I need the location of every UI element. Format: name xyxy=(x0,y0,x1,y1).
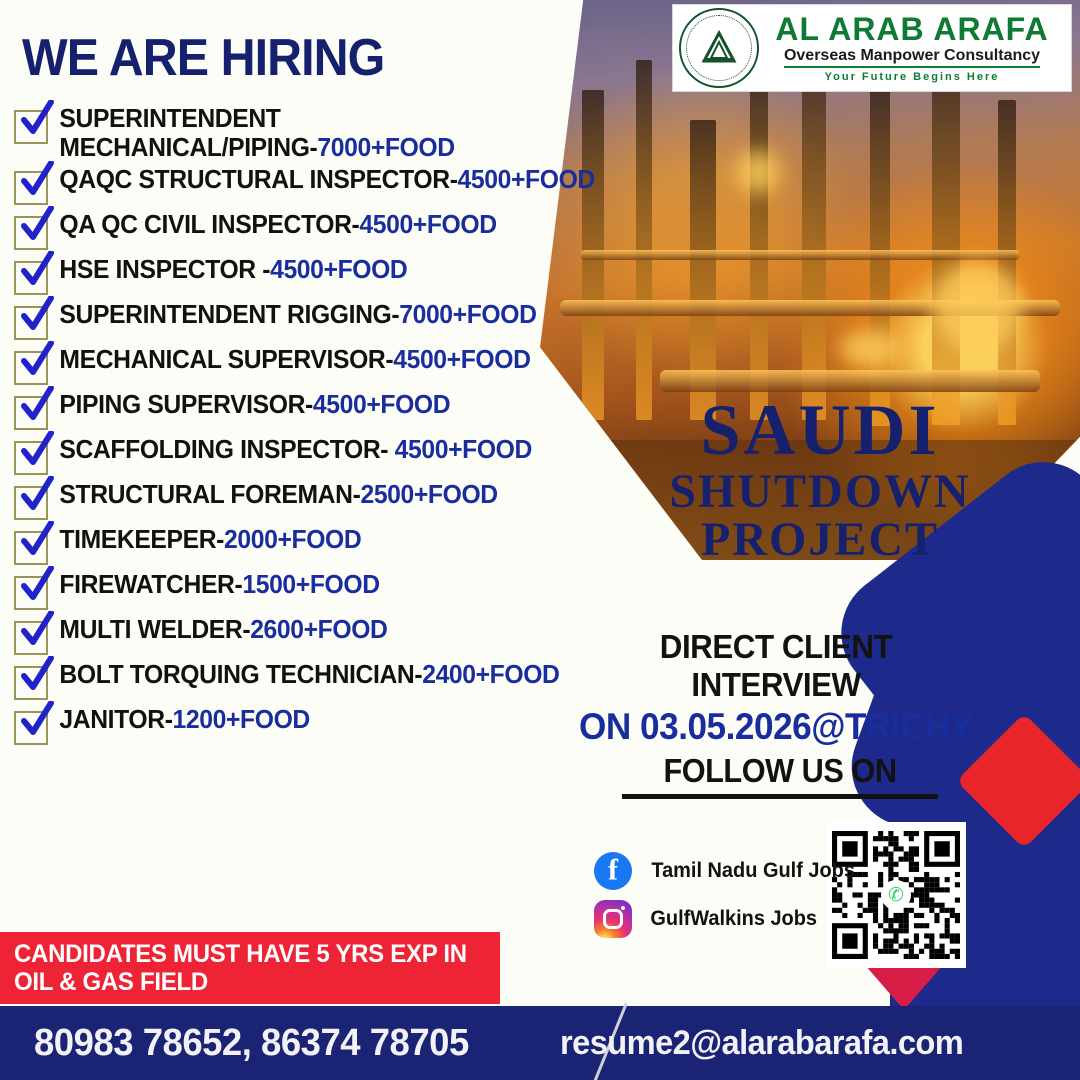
social-account-label: GulfWalkins Jobs xyxy=(650,907,817,931)
instagram-icon[interactable] xyxy=(594,900,632,938)
contact-email[interactable]: resume2@alarabarafa.com xyxy=(560,1024,963,1063)
job-salary: 1500+FOOD xyxy=(242,569,379,599)
checkbox-icon xyxy=(14,306,48,340)
job-salary: 4500+FOOD xyxy=(359,209,496,239)
job-title: HSE INSPECTOR -4500+FOOD xyxy=(48,255,624,284)
follow-us-divider xyxy=(622,794,938,799)
follow-us-label: FOLLOW US ON xyxy=(613,752,948,790)
checkbox-icon xyxy=(14,621,48,655)
job-list-item: HSE INSPECTOR -4500+FOOD xyxy=(14,255,654,297)
job-salary: 4500+FOOD xyxy=(458,164,595,194)
job-list-item: SCAFFOLDING INSPECTOR- 4500+FOOD xyxy=(14,435,654,477)
job-title: BOLT TORQUING TECHNICIAN-2400+FOOD xyxy=(48,660,624,689)
requirement-line1: CANDIDATES MUST HAVE 5 YRS EXP IN xyxy=(14,940,481,968)
follow-us-heading: FOLLOW US ON xyxy=(600,752,960,799)
job-title: STRUCTURAL FOREMAN-2500+FOOD xyxy=(48,480,624,509)
hiring-poster: AL ARAB ARAFA Overseas Manpower Consulta… xyxy=(0,0,1080,1080)
checkbox-icon xyxy=(14,486,48,520)
requirement-line2: OIL & GAS FIELD xyxy=(14,968,481,996)
job-title: QA QC CIVIL INSPECTOR-4500+FOOD xyxy=(48,210,624,239)
logo-company-name: AL ARAB ARAFA xyxy=(759,13,1065,45)
job-list-item: BOLT TORQUING TECHNICIAN-2400+FOOD xyxy=(14,660,654,702)
job-salary: 2600+FOOD xyxy=(250,614,387,644)
job-title: MULTI WELDER-2600+FOOD xyxy=(48,615,624,644)
interview-line1: DIRECT CLIENT INTERVIEW xyxy=(577,628,976,704)
checkbox-icon xyxy=(14,441,48,475)
interview-line2: ON 03.05.2026@TRICHY xyxy=(577,706,976,748)
social-account[interactable]: GulfWalkins Jobs xyxy=(594,900,860,938)
social-account-label: Tamil Nadu Gulf Jobs xyxy=(651,859,855,883)
project-title-line2: SHUTDOWN PROJECT xyxy=(560,468,1080,564)
job-title: SUPERINTENDENT MECHANICAL/PIPING-7000+FO… xyxy=(48,104,624,162)
interview-details: DIRECT CLIENT INTERVIEW ON 03.05.2026@TR… xyxy=(566,628,986,748)
job-salary: 4500+FOOD xyxy=(393,344,530,374)
contact-phone-numbers[interactable]: 80983 78652, 86374 78705 xyxy=(34,1022,469,1065)
checkbox-icon xyxy=(14,666,48,700)
checkbox-icon xyxy=(14,531,48,565)
job-list-item: STRUCTURAL FOREMAN-2500+FOOD xyxy=(14,480,654,522)
page-title: WE ARE HIRING xyxy=(22,28,384,88)
job-list: SUPERINTENDENT MECHANICAL/PIPING-7000+FO… xyxy=(14,104,654,750)
job-list-item: QA QC CIVIL INSPECTOR-4500+FOOD xyxy=(14,210,654,252)
logo-subtitle: Overseas Manpower Consultancy xyxy=(784,48,1040,68)
job-salary: 2500+FOOD xyxy=(360,479,497,509)
job-title: MECHANICAL SUPERVISOR-4500+FOOD xyxy=(48,345,624,374)
whatsapp-icon: ✆ xyxy=(881,880,911,910)
checkbox-icon xyxy=(14,396,48,430)
job-salary: 2000+FOOD xyxy=(224,524,361,554)
job-title: SCAFFOLDING INSPECTOR- 4500+FOOD xyxy=(48,435,624,464)
job-list-item: QAQC STRUCTURAL INSPECTOR-4500+FOOD xyxy=(14,165,654,207)
social-account[interactable]: Tamil Nadu Gulf Jobs xyxy=(594,852,860,890)
logo-tagline: Your Future Begins Here xyxy=(759,72,1065,83)
job-salary: 2400+FOOD xyxy=(422,659,559,689)
job-title: FIREWATCHER-1500+FOOD xyxy=(48,570,624,599)
checkbox-icon xyxy=(14,711,48,745)
job-salary: 7000+FOOD xyxy=(317,132,454,162)
job-list-item: PIPING SUPERVISOR-4500+FOOD xyxy=(14,390,654,432)
company-seal-icon xyxy=(679,8,759,88)
requirement-banner: CANDIDATES MUST HAVE 5 YRS EXP IN OIL & … xyxy=(0,932,500,1004)
job-title: TIMEKEEPER-2000+FOOD xyxy=(48,525,624,554)
job-salary: 7000+FOOD xyxy=(399,299,536,329)
checkbox-icon xyxy=(14,261,48,295)
job-list-item: MULTI WELDER-2600+FOOD xyxy=(14,615,654,657)
checkbox-icon xyxy=(14,171,48,205)
job-list-item: TIMEKEEPER-2000+FOOD xyxy=(14,525,654,567)
job-salary: 4500+FOOD xyxy=(395,434,532,464)
job-title: QAQC STRUCTURAL INSPECTOR-4500+FOOD xyxy=(48,165,624,194)
job-title: SUPERINTENDENT RIGGING-7000+FOOD xyxy=(48,300,624,329)
social-accounts: Tamil Nadu Gulf JobsGulfWalkins Jobs xyxy=(594,852,860,948)
company-logo: AL ARAB ARAFA Overseas Manpower Consulta… xyxy=(672,4,1072,92)
project-title-line1: SAUDI xyxy=(560,396,1080,464)
job-salary: 4500+FOOD xyxy=(270,254,407,284)
job-title: PIPING SUPERVISOR-4500+FOOD xyxy=(48,390,624,419)
job-list-item: SUPERINTENDENT MECHANICAL/PIPING-7000+FO… xyxy=(14,104,654,162)
facebook-icon[interactable] xyxy=(594,852,632,890)
job-list-item: MECHANICAL SUPERVISOR-4500+FOOD xyxy=(14,345,654,387)
checkbox-icon xyxy=(14,576,48,610)
job-list-item: JANITOR-1200+FOOD xyxy=(14,705,654,747)
project-title: SAUDI SHUTDOWN PROJECT xyxy=(560,396,1080,564)
contact-footer: 80983 78652, 86374 78705 resume2@alaraba… xyxy=(0,1006,1080,1080)
checkbox-icon xyxy=(14,351,48,385)
job-list-item: SUPERINTENDENT RIGGING-7000+FOOD xyxy=(14,300,654,342)
job-title: JANITOR-1200+FOOD xyxy=(48,705,624,734)
job-salary: 1200+FOOD xyxy=(173,704,310,734)
job-salary: 4500+FOOD xyxy=(313,389,450,419)
checkbox-icon xyxy=(14,216,48,250)
checkbox-icon xyxy=(14,110,48,144)
job-list-item: FIREWATCHER-1500+FOOD xyxy=(14,570,654,612)
